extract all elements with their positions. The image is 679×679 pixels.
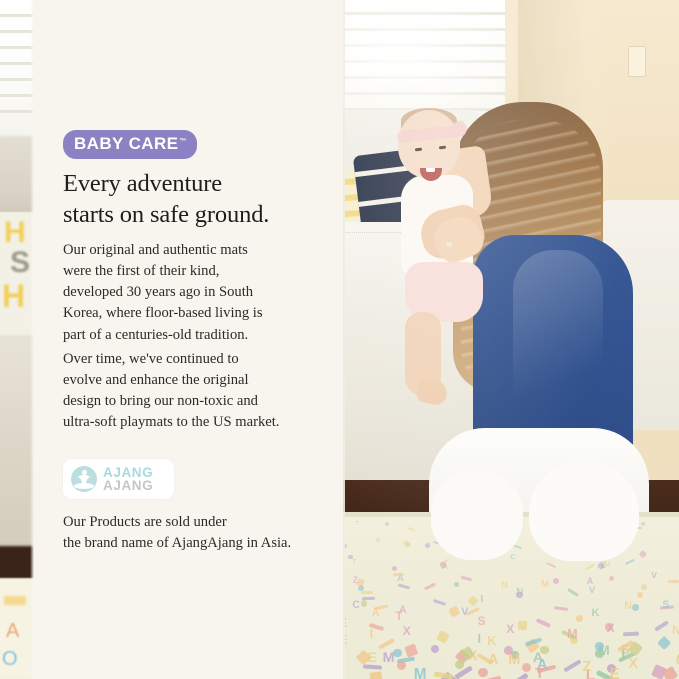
paragraph-three-line-1: Our Products are sold under <box>63 512 323 533</box>
playmat-letter: M <box>383 650 395 666</box>
playmat-letter: I <box>370 627 374 641</box>
left-strip-blind-slat <box>0 14 34 17</box>
playmat-letter: V <box>651 570 657 580</box>
paragraph-two-line-2: evolve and enhance the original <box>63 370 313 391</box>
ajang-ajang-logo: AJANG AJANG <box>63 459 174 499</box>
playmat-dash <box>668 580 679 583</box>
playmat-letter: K <box>487 633 496 648</box>
playmat-dash <box>360 590 372 593</box>
paragraph-one: Our original and authentic mats were the… <box>63 240 313 346</box>
baby-care-logo: BABY CARE™ <box>63 130 197 159</box>
playmat-letter: Z <box>630 642 638 657</box>
playmat-letter: S <box>478 615 486 628</box>
paragraph-three-line-2: the brand name of AjangAjang in Asia. <box>63 533 323 554</box>
playmat-letter: M <box>567 627 578 641</box>
paragraph-one-line-5: part of a centuries-old tradition. <box>63 325 313 346</box>
playmat-letter: M <box>402 540 407 547</box>
left-strip-window <box>0 0 34 150</box>
left-strip-blind-slat <box>0 62 34 65</box>
left-strip-sofa-base <box>0 430 34 548</box>
paragraph-one-line-4: Korea, where floor-based living is <box>63 303 313 324</box>
playmat-letter: I <box>478 631 482 646</box>
paragraph-one-line-2: were the first of their kind, <box>63 261 313 282</box>
playmat-letter: M <box>541 579 549 589</box>
left-photo-strip: H S H A O <box>0 0 34 679</box>
ajang-figure-head-icon <box>82 470 87 475</box>
paragraph-one-line-1: Our original and authentic mats <box>63 240 313 261</box>
playmat-letter: M <box>414 666 427 679</box>
paragraph-three: Our Products are sold under the brand na… <box>63 512 323 554</box>
playmat-dot <box>540 646 549 655</box>
left-strip-mat-letter: O <box>2 648 22 666</box>
ajang-ajang-wordmark: AJANG AJANG <box>103 467 153 492</box>
ajang-figure-icon <box>71 466 97 492</box>
lifestyle-photo: TLCISEAEMAXZXNVMAIMEAMECXNOSNKMMCEMLZVSZ… <box>343 0 679 679</box>
left-strip-mat-shape <box>4 596 26 605</box>
text-panel: BABY CARE™ Every adventure starts on saf… <box>34 0 343 679</box>
left-strip-blind-slat <box>0 110 34 113</box>
photo-baby-tooth <box>426 168 435 172</box>
playmat-letter: T <box>352 557 357 566</box>
playmat-dot <box>361 600 368 607</box>
photo-mother-ring <box>446 242 452 247</box>
headline: Every adventure starts on safe ground. <box>63 168 335 231</box>
paragraph-two: Over time, we've continued to evolve and… <box>63 349 313 434</box>
trademark-icon: ™ <box>179 138 186 145</box>
playmat-letter: E <box>610 666 620 679</box>
playmat-letter: S <box>662 599 669 611</box>
playmat-letter: K <box>592 607 600 619</box>
photo-mother-knee-front <box>431 468 523 560</box>
playmat-letter: I <box>480 594 483 605</box>
playmat-square <box>369 672 383 679</box>
photo-light-switch <box>628 46 646 77</box>
headline-line-2: starts on safe ground. <box>63 199 335 230</box>
playmat-dot <box>595 649 604 658</box>
playmat-dot <box>478 668 487 677</box>
headline-line-1: Every adventure <box>63 168 335 199</box>
playmat-letter: N <box>624 600 632 612</box>
playmat-letter: T <box>356 521 359 527</box>
playmat-letter: C <box>510 552 515 561</box>
playmat-dash <box>362 597 375 600</box>
playmat-letter: V <box>461 606 468 618</box>
baby-care-logo-text: BABY CARE <box>74 134 178 153</box>
left-strip-blind-slat <box>0 78 34 81</box>
paragraph-two-line-3: design to bring our non-toxic and <box>63 391 313 412</box>
playmat-dot <box>641 584 647 590</box>
left-strip-sofa-back <box>0 136 34 218</box>
playmat-letter: V <box>589 585 595 596</box>
playmat-dot <box>516 592 522 598</box>
playmat-letter: X <box>607 621 615 635</box>
photo-mother-knee-front <box>529 463 639 561</box>
playmat-letter: Z <box>582 659 591 675</box>
playmat-dash <box>622 631 638 636</box>
playmat-square <box>517 621 527 631</box>
promo-card: H S H A O BABY CARE™ Every adventure sta… <box>0 0 679 679</box>
left-strip-blind-slat <box>0 46 34 49</box>
paragraph-two-line-4: ultra-soft playmats to the US market. <box>63 412 313 433</box>
playmat-letter: K <box>376 537 381 544</box>
photo-left-seam <box>343 0 345 679</box>
left-strip-mat-letter: A <box>6 620 24 636</box>
playmat-letter: T <box>396 611 403 623</box>
playmat-letter: N <box>501 580 508 590</box>
left-strip-letter-s: S <box>10 246 30 280</box>
left-strip-cushion <box>0 336 34 433</box>
playmat-letter: C <box>352 599 360 611</box>
playmat-letter: M <box>508 652 520 668</box>
playmat-dot <box>632 604 639 611</box>
paragraph-two-line-1: Over time, we've continued to <box>63 349 313 370</box>
left-strip-letter-h: H <box>4 216 26 250</box>
playmat-letter: N <box>672 623 679 637</box>
paragraph-one-line-3: developed 30 years ago in South <box>63 282 313 303</box>
playmat-letter: A <box>488 652 498 668</box>
left-strip-blind-slat <box>0 30 34 33</box>
left-strip-blind-slat <box>0 94 34 97</box>
playmat-letter: X <box>628 656 638 672</box>
ajang-figure-base-icon <box>74 483 94 489</box>
playmat-letter: X <box>403 624 411 638</box>
playmat-letter: T <box>535 665 544 679</box>
playmat-dot <box>553 578 559 584</box>
photo-mother-shirt-highlight <box>513 250 603 450</box>
playmat-letter: X <box>506 622 514 636</box>
left-strip-letter-h: H <box>2 278 25 315</box>
logo-c-dot-icon <box>141 139 145 143</box>
left-strip-floor <box>0 546 34 582</box>
ajang-line-2: AJANG <box>103 480 153 493</box>
